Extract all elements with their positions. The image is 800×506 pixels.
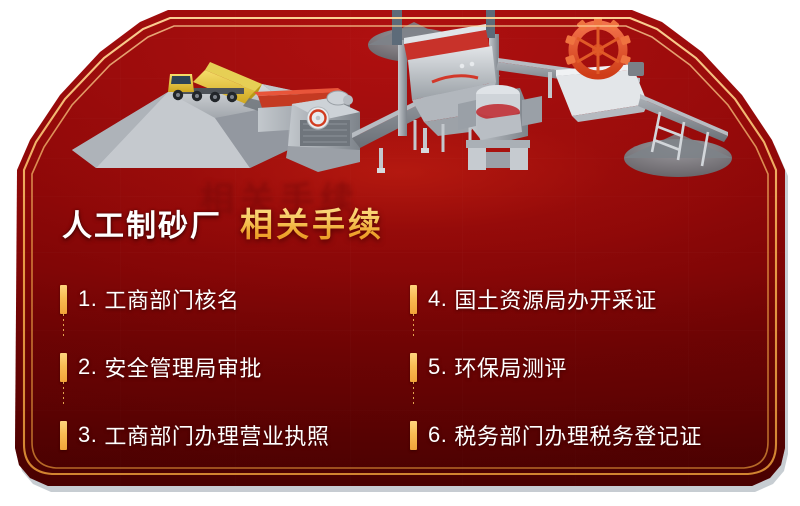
card-background: 相关手续 人工制砂厂 相关手续 1. 工商部门核名 2. 安全管理局审批 (0, 0, 800, 500)
banner-root: 相关手续 人工制砂厂 相关手续 1. 工商部门核名 2. 安全管理局审批 (0, 0, 800, 500)
list-item-number: 2. (78, 354, 97, 380)
connector-dots (413, 314, 414, 339)
title-primary: 人工制砂厂 (62, 201, 222, 245)
bullet-bar-icon (410, 353, 417, 382)
title-highlight: 相关手续 (240, 198, 384, 246)
list-item-number: 4. (428, 286, 447, 312)
bullet-bar-icon (60, 421, 67, 450)
list-item-label: 国土资源局办开采证 (454, 283, 657, 315)
list-item-label: 安全管理局审批 (104, 351, 262, 383)
list-item-number: 1. (78, 286, 97, 312)
procedure-column-right: 4. 国土资源局办开采证 5. 环保局测评 6. 税务部门办理税务登记证 (410, 270, 760, 474)
list-item: 2. 安全管理局审批 (60, 338, 410, 396)
list-item-label: 环保局测评 (454, 351, 567, 383)
list-item-label: 工商部门办理营业执照 (104, 419, 329, 451)
list-item-number: 3. (78, 422, 97, 448)
connector-dots (63, 382, 64, 407)
bullet-bar-icon (410, 285, 417, 314)
list-item-label: 税务部门办理税务登记证 (454, 419, 702, 451)
sand-washing-machine (556, 17, 648, 122)
list-item-label: 工商部门核名 (104, 283, 239, 315)
page-title: 人工制砂厂 相关手续 (62, 198, 384, 246)
list-item: 5. 环保局测评 (410, 338, 760, 396)
procedure-list: 1. 工商部门核名 2. 安全管理局审批 3. 工商部门办理营业执照 (60, 270, 760, 474)
bullet-bar-icon (410, 421, 417, 450)
list-item: 4. 国土资源局办开采证 (410, 270, 760, 328)
connector-dots (413, 382, 414, 407)
list-item: 1. 工商部门核名 (60, 270, 410, 328)
connector-dots (63, 314, 64, 339)
list-item: 6. 税务部门办理税务登记证 (410, 406, 760, 464)
bullet-bar-icon (60, 353, 67, 382)
procedure-column-left: 1. 工商部门核名 2. 安全管理局审批 3. 工商部门办理营业执照 (60, 270, 410, 474)
production-line-illustration (0, 0, 800, 200)
bullet-bar-icon (60, 285, 67, 314)
list-item: 3. 工商部门办理营业执照 (60, 406, 410, 464)
list-item-number: 6. (428, 422, 447, 448)
list-item-number: 5. (428, 354, 447, 380)
